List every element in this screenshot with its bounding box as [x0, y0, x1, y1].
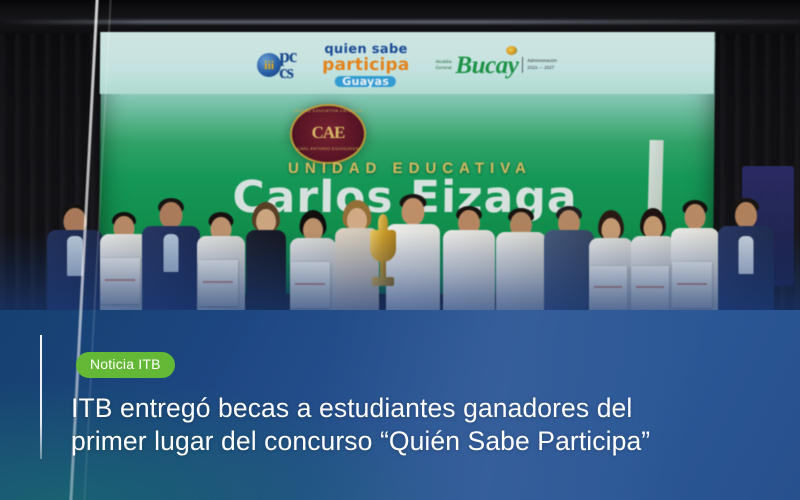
headline-line-1: ITB entregó becas a estudiantes ganadore… [71, 392, 771, 425]
page-title: ITB entregó becas a estudiantes ganadore… [71, 392, 771, 458]
news-hero-card: pc cs quien sabe participa Guayas Alcald… [0, 0, 800, 500]
status-badge[interactable]: Noticia ITB [76, 352, 175, 378]
headline-accent-rule [40, 335, 42, 459]
headline-line-2: primer lugar del concurso “Quién Sabe Pa… [71, 425, 771, 458]
